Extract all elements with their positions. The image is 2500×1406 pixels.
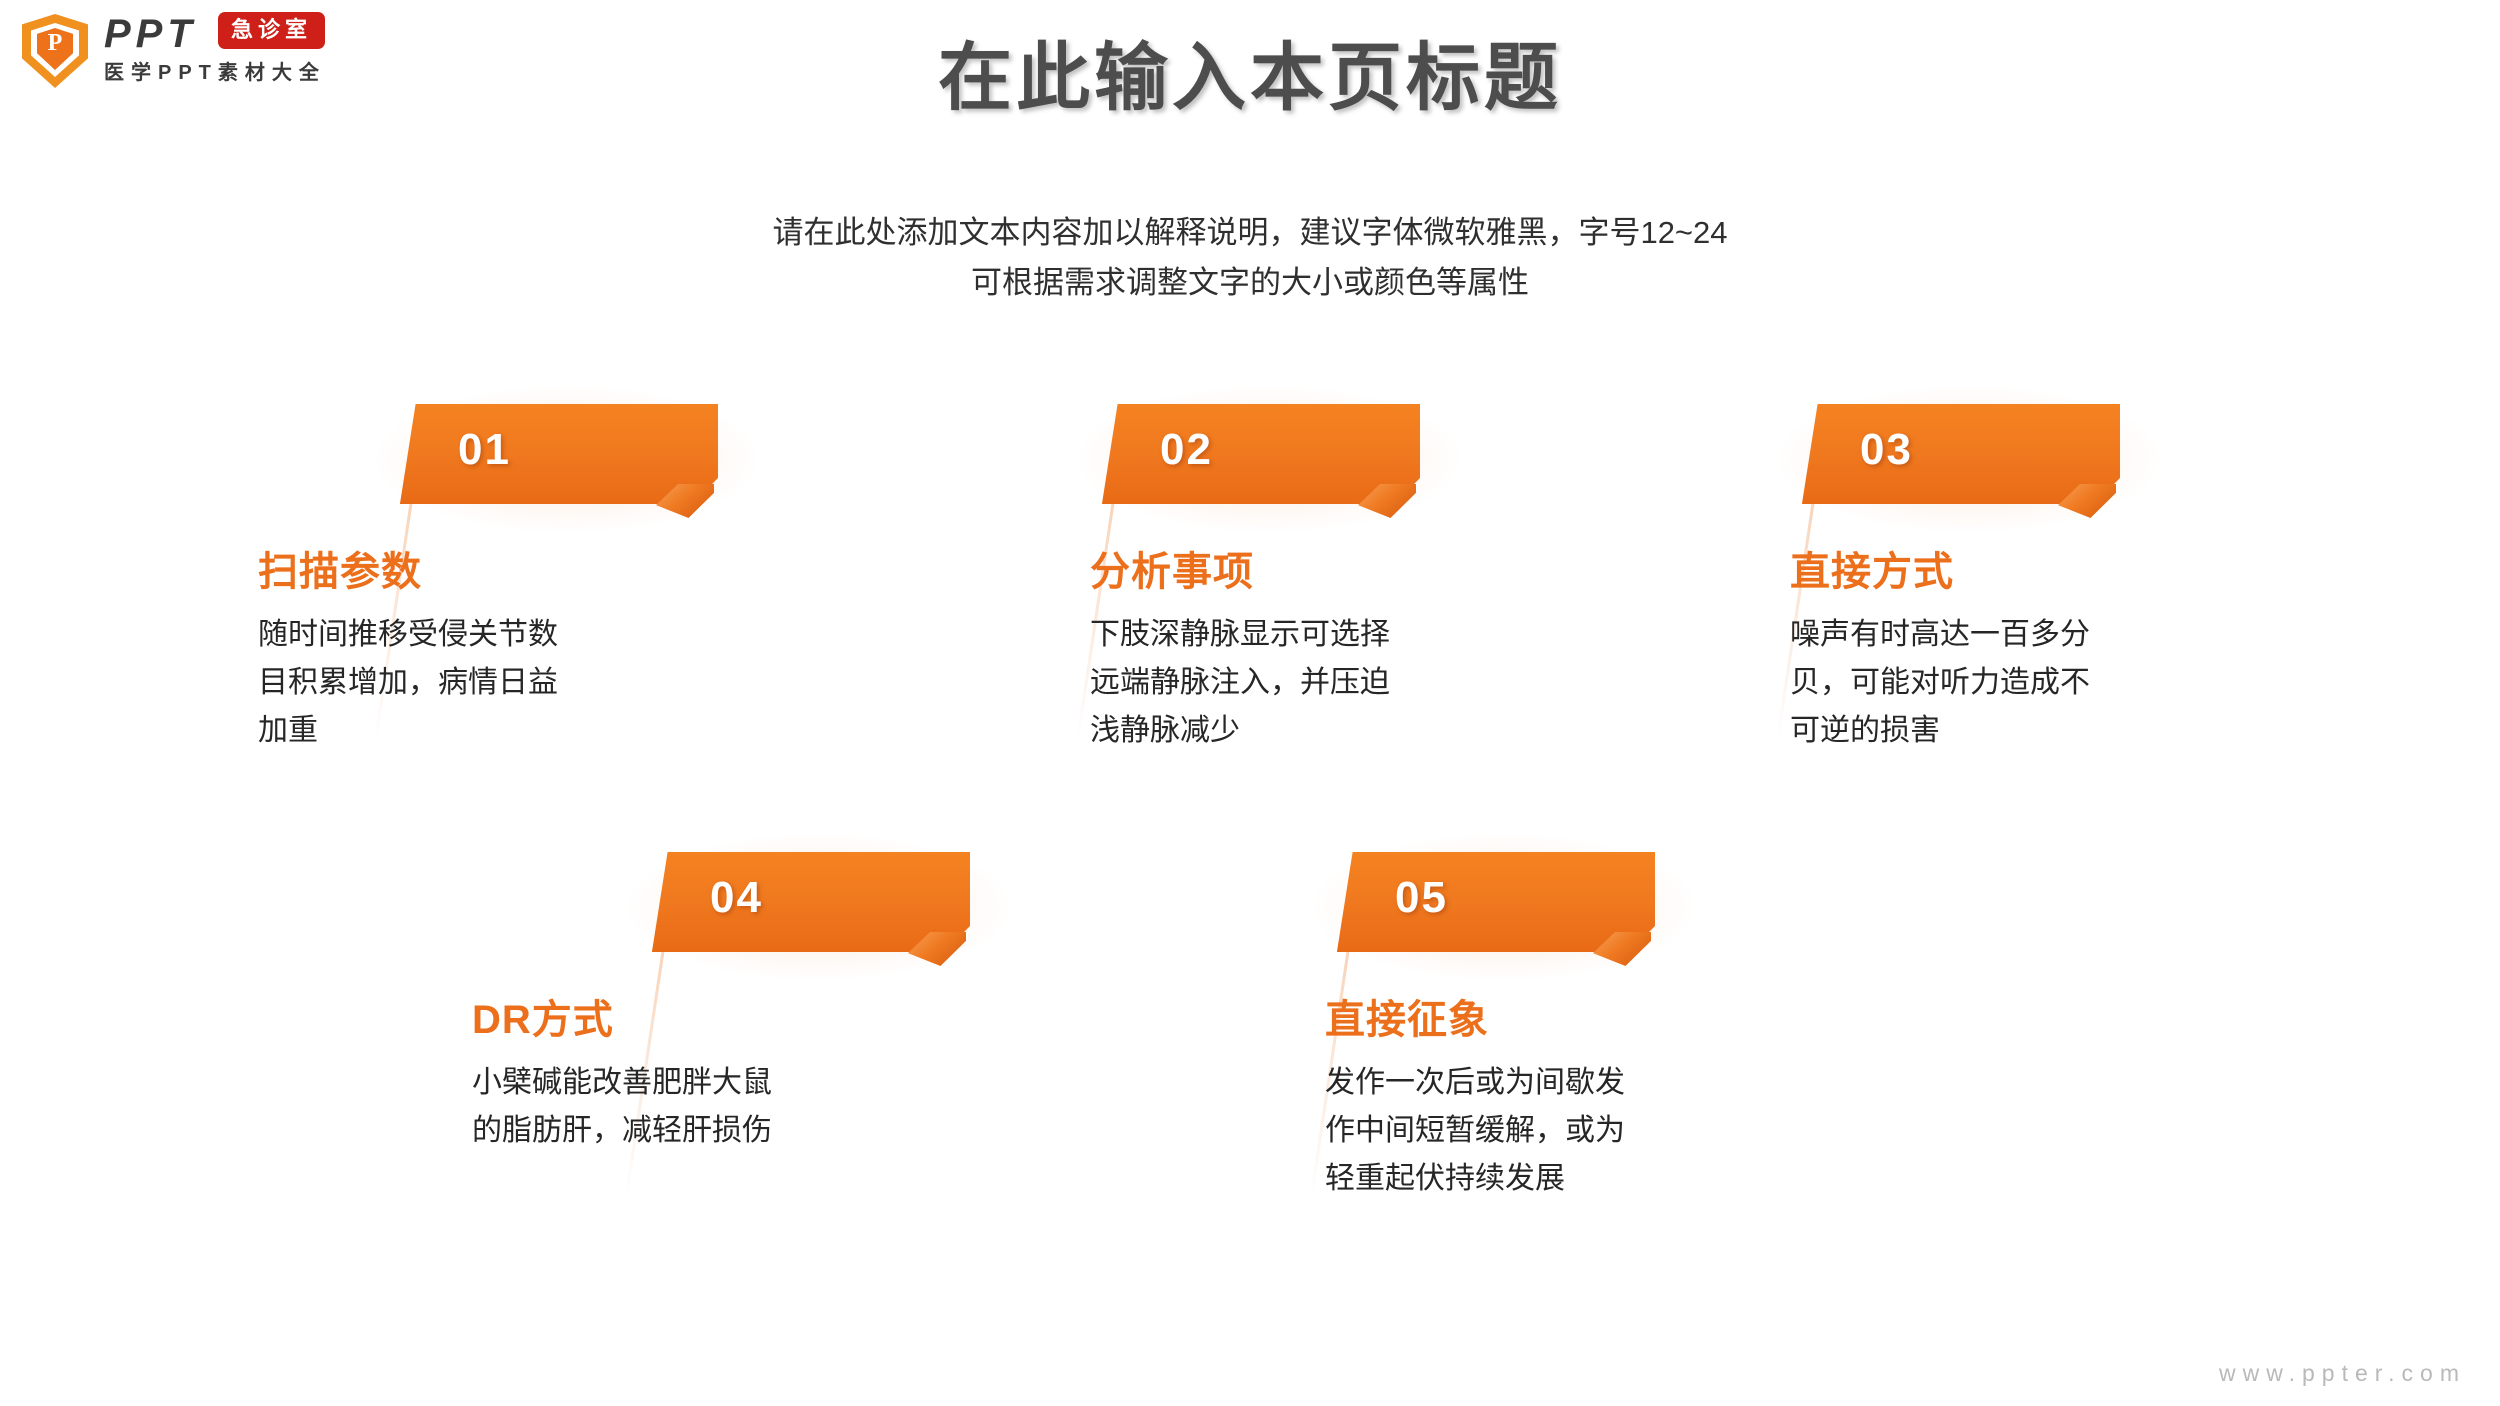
card-heading-02: 分析事项: [1090, 549, 1254, 595]
card-number-05: 05: [1395, 874, 1448, 922]
page-subtitle: 请在此处添加文本内容加以解释说明，建议字体微软雅黑，字号12~24 可根据需求调…: [0, 208, 2500, 308]
subtitle-line-1: 请在此处添加文本内容加以解释说明，建议字体微软雅黑，字号12~24: [0, 208, 2500, 258]
flag-banner-01: 01: [398, 404, 718, 509]
card-body-01: 随时间推移受侵关节数 目积累增加，病情日益 加重: [258, 611, 558, 755]
flag-banner-04: 04: [650, 852, 970, 957]
card-body-03: 噪声有时高达一百多分 贝，可能对听力造成不 可逆的损害: [1790, 611, 2090, 755]
card-heading-04: DR方式: [472, 997, 614, 1043]
card-number-04: 04: [710, 874, 763, 922]
card-number-02: 02: [1160, 426, 1213, 474]
flag-banner-05: 05: [1335, 852, 1655, 957]
subtitle-line-2: 可根据需求调整文字的大小或颜色等属性: [0, 258, 2500, 308]
card-01[interactable]: 01 扫描参数 随时间推移受侵关节数 目积累增加，病情日益 加重: [398, 404, 718, 509]
card-heading-03: 直接方式: [1790, 549, 1954, 595]
card-number-01: 01: [458, 426, 511, 474]
card-03[interactable]: 03 直接方式 噪声有时高达一百多分 贝，可能对听力造成不 可逆的损害: [1800, 404, 2120, 509]
site-watermark: www.ppter.com: [2219, 1360, 2466, 1386]
card-04[interactable]: 04 DR方式 小檗碱能改善肥胖大鼠 的脂肪肝，减轻肝损伤: [650, 852, 970, 957]
card-body-02: 下肢深静脉显示可选择 远端静脉注入，并压迫 浅静脉减少: [1090, 611, 1390, 755]
card-02[interactable]: 02 分析事项 下肢深静脉显示可选择 远端静脉注入，并压迫 浅静脉减少: [1100, 404, 1420, 509]
page-title: 在此输入本页标题: [0, 36, 2500, 120]
card-body-04: 小檗碱能改善肥胖大鼠 的脂肪肝，减轻肝损伤: [472, 1059, 772, 1155]
flag-banner-03: 03: [1800, 404, 2120, 509]
flag-banner-02: 02: [1100, 404, 1420, 509]
card-number-03: 03: [1860, 426, 1913, 474]
card-body-05: 发作一次后或为间歇发 作中间短暂缓解，或为 轻重起伏持续发展: [1325, 1059, 1625, 1203]
card-heading-01: 扫描参数: [258, 549, 422, 595]
card-05[interactable]: 05 直接征象 发作一次后或为间歇发 作中间短暂缓解，或为 轻重起伏持续发展: [1335, 852, 1655, 957]
card-heading-05: 直接征象: [1325, 997, 1489, 1043]
